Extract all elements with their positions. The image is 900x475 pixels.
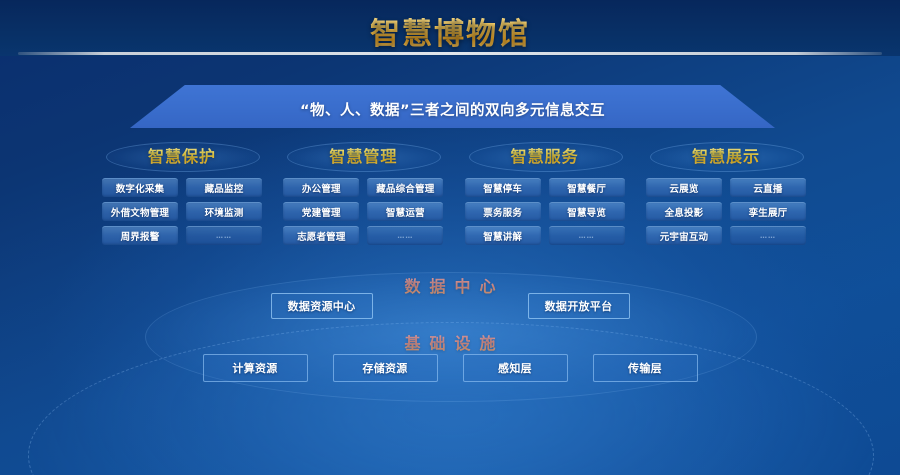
item-pill[interactable]: 智慧导览 [549,202,625,221]
data-open-platform-box[interactable]: 数据开放平台 [528,293,630,319]
infographic-root: 智慧博物馆 “物、人、数据”三者之间的双向多元信息交互 智慧保护 数字化采集 藏… [0,0,900,475]
item-pill[interactable]: 环境监测 [186,202,262,221]
item-pill[interactable]: 藏品监控 [186,178,262,197]
item-pill[interactable]: 云直播 [730,178,806,197]
item-pill[interactable]: 票务服务 [465,202,541,221]
item-pill[interactable]: 智慧讲解 [465,226,541,245]
column-smart-protection: 智慧保护 数字化采集 藏品监控 外借文物管理 环境监测 周界报警 …… [98,136,266,252]
column-smart-exhibition: 智慧展示 云展览 云直播 全息投影 孪生展厅 元宇宙互动 …… [642,136,810,252]
item-pill-more[interactable]: …… [730,226,806,245]
page-title: 智慧博物馆 [0,9,900,53]
column-item-grid: 云展览 云直播 全息投影 孪生展厅 元宇宙互动 …… [642,178,810,245]
infrastructure-row: 计算资源 存储资源 感知层 传输层 [0,354,900,382]
data-center-row: 数据资源中心 数据开放平台 [0,293,900,319]
item-pill[interactable]: 智慧餐厅 [549,178,625,197]
header-divider [18,52,882,55]
column-smart-management: 智慧管理 办公管理 藏品综合管理 党建管理 智慧运营 志愿者管理 …… [279,136,447,252]
item-pill[interactable]: 志愿者管理 [283,226,359,245]
column-smart-service: 智慧服务 智慧停车 智慧餐厅 票务服务 智慧导览 智慧讲解 …… [461,136,629,252]
item-pill[interactable]: 智慧运营 [367,202,443,221]
column-title-wrap: 智慧保护 [98,136,266,176]
column-item-grid: 智慧停车 智慧餐厅 票务服务 智慧导览 智慧讲解 …… [461,178,629,245]
column-title: 智慧服务 [461,143,629,167]
column-title-wrap: 智慧服务 [461,136,629,176]
item-pill[interactable]: 外借文物管理 [102,202,178,221]
data-resource-center-box[interactable]: 数据资源中心 [271,293,373,319]
item-pill[interactable]: 孪生展厅 [730,202,806,221]
column-item-grid: 数字化采集 藏品监控 外借文物管理 环境监测 周界报警 …… [98,178,266,245]
item-pill[interactable]: 云展览 [646,178,722,197]
interaction-banner-label: “物、人、数据”三者之间的双向多元信息交互 [130,85,775,128]
item-pill[interactable]: 藏品综合管理 [367,178,443,197]
item-pill[interactable]: 全息投影 [646,202,722,221]
item-pill[interactable]: 数字化采集 [102,178,178,197]
item-pill-more[interactable]: …… [549,226,625,245]
compute-resource-box[interactable]: 计算资源 [203,354,308,382]
item-pill[interactable]: 智慧停车 [465,178,541,197]
capability-columns: 智慧保护 数字化采集 藏品监控 外借文物管理 环境监测 周界报警 …… 智慧管理… [98,136,810,252]
infrastructure-label: 基础设施 [0,330,900,354]
interaction-banner-text-wrap: “物、人、数据”三者之间的双向多元信息交互 [130,85,775,128]
perception-layer-box[interactable]: 感知层 [463,354,568,382]
storage-resource-box[interactable]: 存储资源 [333,354,438,382]
item-pill-more[interactable]: …… [186,226,262,245]
transmission-layer-box[interactable]: 传输层 [593,354,698,382]
item-pill[interactable]: 办公管理 [283,178,359,197]
item-pill[interactable]: 周界报警 [102,226,178,245]
item-pill-more[interactable]: …… [367,226,443,245]
item-pill[interactable]: 党建管理 [283,202,359,221]
column-title: 智慧管理 [279,143,447,167]
header-bar: 智慧博物馆 [0,0,900,56]
column-title: 智慧展示 [642,143,810,167]
column-title-wrap: 智慧展示 [642,136,810,176]
item-pill[interactable]: 元宇宙互动 [646,226,722,245]
column-item-grid: 办公管理 藏品综合管理 党建管理 智慧运营 志愿者管理 …… [279,178,447,245]
column-title-wrap: 智慧管理 [279,136,447,176]
column-title: 智慧保护 [98,143,266,167]
